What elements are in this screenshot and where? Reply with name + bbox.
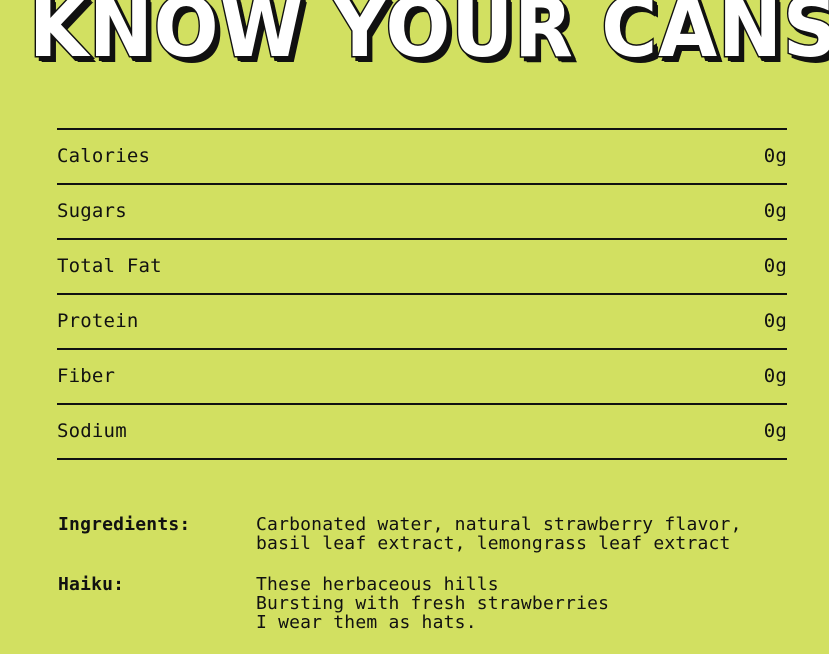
- table-divider: [57, 458, 787, 460]
- haiku-label: Haiku:: [58, 575, 256, 594]
- nutrient-label: Total Fat: [57, 257, 162, 276]
- nutrient-value: 0g: [764, 147, 787, 166]
- page-header: KNOW YOUR CANS: [0, 0, 829, 92]
- table-row: Sugars 0g: [57, 185, 787, 238]
- ingredients-label: Ingredients:: [58, 515, 256, 534]
- nutrient-value: 0g: [764, 202, 787, 221]
- ingredients-block: Ingredients: Carbonated water, natural s…: [58, 515, 798, 553]
- haiku-text: These herbaceous hills Bursting with fre…: [256, 575, 798, 632]
- table-row: Total Fat 0g: [57, 240, 787, 293]
- haiku-line: I wear them as hats.: [256, 613, 798, 632]
- haiku-block: Haiku: These herbaceous hills Bursting w…: [58, 575, 798, 632]
- nutrient-value: 0g: [764, 312, 787, 331]
- haiku-line: Bursting with fresh strawberries: [256, 594, 798, 613]
- nutrient-value: 0g: [764, 257, 787, 276]
- table-row: Calories 0g: [57, 130, 787, 183]
- nutrient-label: Calories: [57, 147, 150, 166]
- nutrient-label: Sugars: [57, 202, 127, 221]
- table-row: Protein 0g: [57, 295, 787, 348]
- nutrient-label: Protein: [57, 312, 138, 331]
- nutrient-value: 0g: [764, 422, 787, 441]
- nutrient-label: Sodium: [57, 422, 127, 441]
- ingredients-text: Carbonated water, natural strawberry fla…: [256, 515, 798, 553]
- nutrition-table: Calories 0g Sugars 0g Total Fat 0g Prote…: [57, 128, 787, 460]
- details-section: Ingredients: Carbonated water, natural s…: [58, 515, 798, 654]
- ingredients-line: Carbonated water, natural strawberry fla…: [256, 515, 798, 534]
- page-title: KNOW YOUR CANS: [29, 0, 800, 74]
- table-row: Fiber 0g: [57, 350, 787, 403]
- table-row: Sodium 0g: [57, 405, 787, 458]
- nutrient-value: 0g: [764, 367, 787, 386]
- nutrient-label: Fiber: [57, 367, 115, 386]
- haiku-line: These herbaceous hills: [256, 575, 798, 594]
- ingredients-line: basil leaf extract, lemongrass leaf extr…: [256, 534, 798, 553]
